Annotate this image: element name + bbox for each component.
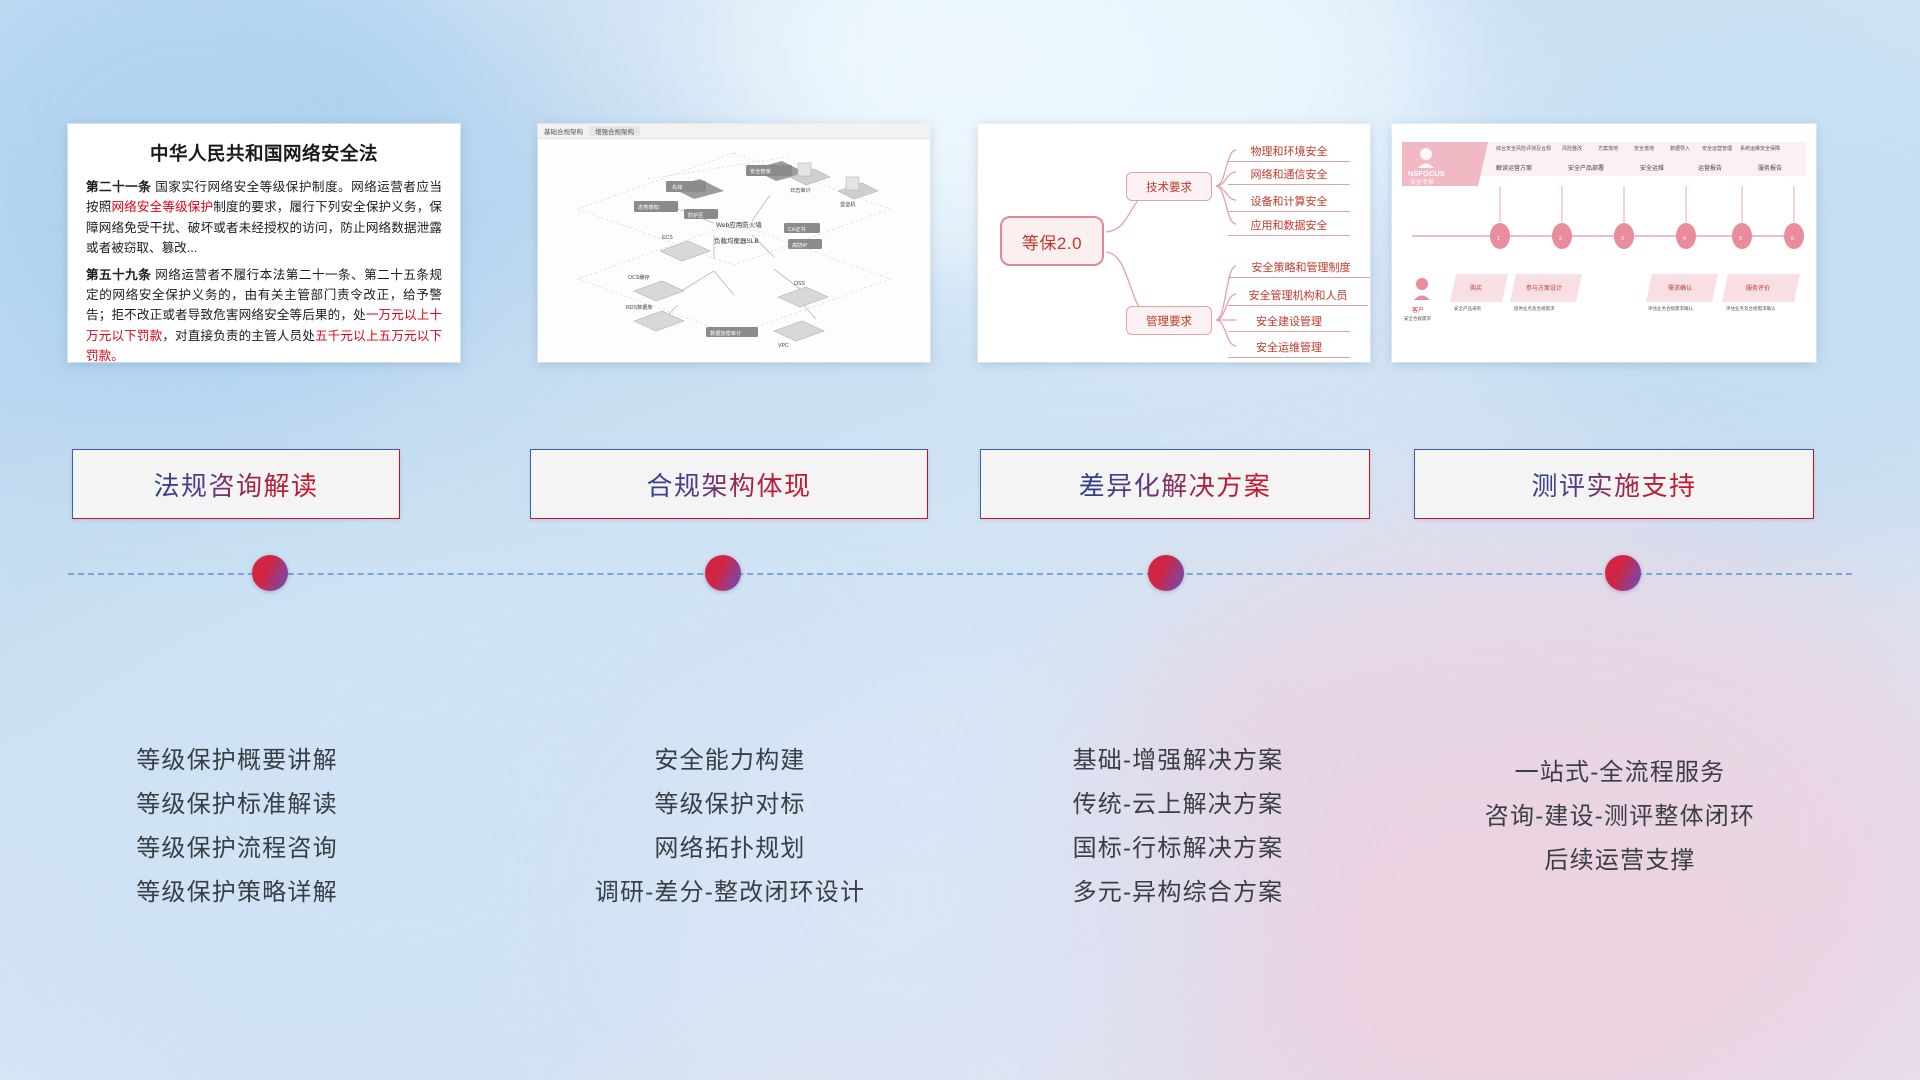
detail-column-solution: 基础-增强解决方案 传统-云上解决方案 国标-行标解决方案 多元-异构综合方案 bbox=[968, 740, 1388, 916]
detail-column-architecture: 安全能力构建 等级保护对标 网络拓扑规划 调研-差分-整改闭环设计 bbox=[520, 740, 940, 916]
list-item: 等级保护策略详解 bbox=[72, 872, 402, 916]
detail-lists: 等级保护概要讲解 等级保护标准解读 等级保护流程咨询 等级保护策略详解 安全能力… bbox=[0, 740, 1920, 1000]
law-article: 第二十一条 国家实行网络安全等级保护制度。网络运营者应当按照网络安全等级保护制度… bbox=[86, 177, 442, 259]
nsfocus-infographic: NSFOCUS 安全专家 综合安全风险评测及合规 风险整改 方案落地 安全落地 … bbox=[1392, 124, 1816, 362]
list-item: 传统-云上解决方案 bbox=[968, 784, 1388, 828]
architecture-svg: 先知 态势感知 安全管家 日志审计 bbox=[538, 139, 930, 362]
svg-text:RDS数据库: RDS数据库 bbox=[626, 303, 653, 311]
stage-label-compliance-architecture[interactable]: 合规架构体现 bbox=[530, 449, 928, 519]
svg-text:综合安全风险评测及合规: 综合安全风险评测及合规 bbox=[1496, 145, 1551, 152]
law-text-highlight: 网络安全等级保护 bbox=[111, 200, 213, 214]
svg-text:NSFOCUS: NSFOCUS bbox=[1408, 169, 1445, 178]
stage-label-text: 测评实施支持 bbox=[1531, 466, 1696, 503]
svg-text:6: 6 bbox=[1791, 236, 1794, 242]
stage-label-row: 法规咨询解读 合规架构体现 差异化解决方案 测评实施支持 bbox=[0, 449, 1920, 519]
law-document: 中华人民共和国网络安全法 第二十一条 国家实行网络安全等级保护制度。网络运营者应… bbox=[68, 124, 460, 362]
svg-text:防护区: 防护区 bbox=[688, 211, 704, 219]
card-row: 中华人民共和国网络安全法 第二十一条 国家实行网络安全等级保护制度。网络运营者应… bbox=[0, 124, 1920, 362]
svg-text:3: 3 bbox=[1621, 236, 1624, 242]
list-item: 一站式-全流程服务 bbox=[1400, 752, 1840, 796]
svg-text:日志审计: 日志审计 bbox=[790, 186, 811, 194]
svg-text:安全产品采购: 安全产品采购 bbox=[1454, 305, 1481, 312]
list-item: 等级保护流程咨询 bbox=[72, 828, 402, 872]
stage-label-text: 合规架构体现 bbox=[646, 466, 811, 503]
svg-text:参与方案设计: 参与方案设计 bbox=[1526, 284, 1562, 292]
nsfocus-svg: NSFOCUS 安全专家 综合安全风险评测及合规 风险整改 方案落地 安全落地 … bbox=[1392, 124, 1816, 362]
stage-label-differentiated-solution[interactable]: 差异化解决方案 bbox=[980, 449, 1370, 519]
svg-text:安全运营管理: 安全运营管理 bbox=[1702, 145, 1732, 152]
timeline-dot[interactable] bbox=[705, 555, 741, 591]
architecture-diagram: 基础合规架构 增强合规架构 bbox=[538, 124, 930, 362]
svg-text:提供业务及合规需求: 提供业务及合规需求 bbox=[1514, 305, 1555, 312]
svg-text:高防IP: 高防IP bbox=[792, 241, 808, 249]
list-item: 等级保护标准解读 bbox=[72, 784, 402, 828]
svg-text:堡垒机: 堡垒机 bbox=[840, 200, 856, 208]
svg-text:安全合规需求: 安全合规需求 bbox=[1404, 315, 1431, 322]
svg-text:4: 4 bbox=[1683, 236, 1686, 242]
svg-text:负载均衡器SLB: 负载均衡器SLB bbox=[714, 236, 759, 245]
infographic-stage: 中华人民共和国网络安全法 第二十一条 国家实行网络安全等级保护制度。网络运营者应… bbox=[0, 0, 1920, 1080]
list-item: 调研-差分-整改闭环设计 bbox=[520, 872, 940, 916]
stage-label-text: 法规咨询解读 bbox=[153, 466, 318, 503]
stage-label-assessment-support[interactable]: 测评实施支持 bbox=[1414, 449, 1814, 519]
stage-label-text: 差异化解决方案 bbox=[1079, 466, 1272, 503]
mindmap-leaf: 应用和数据安全 bbox=[1228, 214, 1350, 236]
law-article: 第五十九条 网络运营者不履行本法第二十一条、第二十五条规定的网络安全保护义务的，… bbox=[86, 265, 442, 362]
timeline bbox=[0, 552, 1920, 596]
mindmap-branch-management: 管理要求 bbox=[1126, 306, 1212, 335]
svg-text:数据加密审计: 数据加密审计 bbox=[710, 329, 741, 337]
svg-text:OCS缓存: OCS缓存 bbox=[628, 273, 650, 281]
card-compliance-architecture: 基础合规架构 增强合规架构 bbox=[538, 124, 930, 362]
svg-text:方案落地: 方案落地 bbox=[1598, 145, 1618, 152]
svg-text:购买: 购买 bbox=[1470, 284, 1482, 292]
detail-column-assessment: 一站式-全流程服务 咨询-建设-测评整体闭环 后续运营支撑 bbox=[1400, 752, 1840, 884]
list-item: 基础-增强解决方案 bbox=[968, 740, 1388, 784]
mindmap-leaf: 安全建设管理 bbox=[1228, 310, 1350, 332]
svg-text:Web应用防火墙: Web应用防火墙 bbox=[716, 220, 762, 229]
law-title: 中华人民共和国网络安全法 bbox=[86, 140, 442, 166]
svg-text:安全运维: 安全运维 bbox=[1640, 164, 1664, 172]
list-item: 等级保护对标 bbox=[520, 784, 940, 828]
svg-text:评估业务合规需求确认: 评估业务合规需求确认 bbox=[1648, 305, 1693, 312]
card-mindmap-dengbao: 等保2.0 技术要求 管理要求 物理和环境安全 网络和通信安全 设备和计算安全 … bbox=[978, 124, 1370, 362]
list-item: 多元-异构综合方案 bbox=[968, 872, 1388, 916]
svg-text:CA证书: CA证书 bbox=[788, 225, 806, 233]
svg-text:先知: 先知 bbox=[672, 183, 682, 191]
stage-label-regulation-consulting[interactable]: 法规咨询解读 bbox=[72, 449, 400, 519]
tab-basic-architecture[interactable]: 基础合规架构 bbox=[538, 126, 589, 136]
svg-text:评估业务及合规需求确认: 评估业务及合规需求确认 bbox=[1726, 305, 1776, 312]
mindmap: 等保2.0 技术要求 管理要求 物理和环境安全 网络和通信安全 设备和计算安全 … bbox=[978, 124, 1370, 362]
svg-text:安全管家: 安全管家 bbox=[750, 167, 771, 175]
mindmap-leaf: 网络和通信安全 bbox=[1228, 163, 1350, 185]
timeline-dashed-line bbox=[68, 573, 1852, 575]
timeline-dot[interactable] bbox=[1148, 555, 1184, 591]
mindmap-leaf: 安全运维管理 bbox=[1228, 336, 1350, 358]
svg-text:OSS: OSS bbox=[794, 281, 805, 287]
card-nsfocus-service-flow: NSFOCUS 安全专家 综合安全风险评测及合规 风险整改 方案落地 安全落地 … bbox=[1392, 124, 1816, 362]
list-item: 等级保护概要讲解 bbox=[72, 740, 402, 784]
svg-text:VPC: VPC bbox=[778, 343, 789, 349]
mindmap-leaf: 物理和环境安全 bbox=[1228, 140, 1350, 162]
svg-text:风险整改: 风险整改 bbox=[1562, 145, 1582, 152]
svg-text:5: 5 bbox=[1739, 236, 1742, 242]
svg-text:客户: 客户 bbox=[1412, 306, 1424, 314]
list-item: 安全能力构建 bbox=[520, 740, 940, 784]
list-item: 国标-行标解决方案 bbox=[968, 828, 1388, 872]
svg-text:1: 1 bbox=[1497, 236, 1500, 242]
tab-enhanced-architecture[interactable]: 增强合规架构 bbox=[589, 126, 640, 136]
svg-text:运营报告: 运营报告 bbox=[1698, 164, 1722, 172]
mindmap-leaf: 安全策略和管理制度 bbox=[1228, 256, 1370, 278]
svg-text:服务报告: 服务报告 bbox=[1758, 164, 1782, 172]
card-cybersecurity-law: 中华人民共和国网络安全法 第二十一条 国家实行网络安全等级保护制度。网络运营者应… bbox=[68, 124, 460, 362]
svg-text:需求确认: 需求确认 bbox=[1668, 284, 1692, 292]
mindmap-leaf: 安全管理机构和人员 bbox=[1228, 284, 1368, 306]
law-article-label: 第二十一条 bbox=[86, 180, 151, 194]
svg-text:数据导入: 数据导入 bbox=[1670, 145, 1690, 152]
svg-text:安全落地: 安全落地 bbox=[1634, 145, 1654, 152]
timeline-dot[interactable] bbox=[252, 555, 288, 591]
architecture-tabs: 基础合规架构 增强合规架构 bbox=[538, 124, 930, 139]
list-item: 网络拓扑规划 bbox=[520, 828, 940, 872]
svg-text:2: 2 bbox=[1559, 236, 1562, 242]
mindmap-branch-technical: 技术要求 bbox=[1126, 172, 1212, 201]
list-item: 后续运营支撑 bbox=[1400, 840, 1840, 884]
svg-text:ECS: ECS bbox=[662, 235, 673, 241]
svg-text:系统运维安全保障: 系统运维安全保障 bbox=[1740, 145, 1780, 152]
law-article-label: 第五十九条 bbox=[86, 268, 151, 282]
detail-column-regulation: 等级保护概要讲解 等级保护标准解读 等级保护流程咨询 等级保护策略详解 bbox=[72, 740, 402, 916]
svg-text:解读运营方案: 解读运营方案 bbox=[1496, 164, 1532, 172]
svg-text:服务评价: 服务评价 bbox=[1746, 284, 1770, 292]
timeline-dot[interactable] bbox=[1605, 555, 1641, 591]
law-text: ，对直接负责的主管人员处 bbox=[162, 329, 315, 343]
list-item: 咨询-建设-测评整体闭环 bbox=[1400, 796, 1840, 840]
svg-text:安全专家: 安全专家 bbox=[1410, 178, 1434, 186]
svg-text:态势感知: 态势感知 bbox=[638, 203, 659, 211]
svg-text:安全产品部署: 安全产品部署 bbox=[1568, 164, 1604, 172]
mindmap-leaf: 设备和计算安全 bbox=[1228, 190, 1350, 212]
mindmap-root: 等保2.0 bbox=[1000, 216, 1104, 266]
